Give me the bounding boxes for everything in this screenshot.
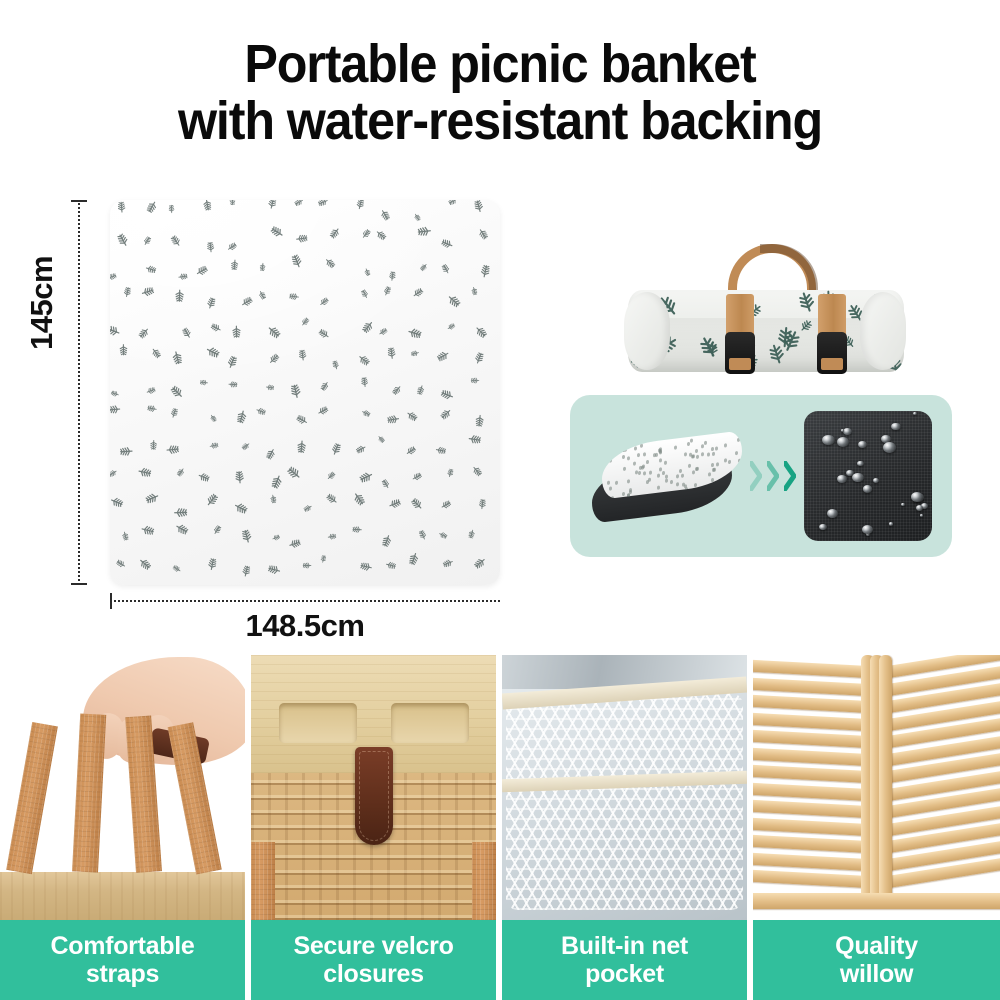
height-label: 145cm xyxy=(24,256,60,350)
buckle-right-icon xyxy=(817,332,847,374)
velcro-strap-icon xyxy=(355,747,393,845)
willow-weave-photo xyxy=(753,655,1000,920)
chevron-3 xyxy=(784,461,796,491)
caption-line-1: Built-in net xyxy=(561,932,688,960)
caption-line-1: Secure velcro xyxy=(293,932,453,960)
willow-stake xyxy=(879,655,892,903)
water-droplet xyxy=(822,435,834,445)
willow-rod xyxy=(753,800,877,819)
water-resistant-panel xyxy=(570,395,952,557)
hand-holding-straps-photo xyxy=(0,655,245,920)
buckle-slot xyxy=(729,358,751,370)
willow-rod xyxy=(753,835,877,854)
water-droplet xyxy=(863,485,873,493)
side-strap-right xyxy=(472,842,496,920)
feature-caption-straps: Comfortable straps xyxy=(0,920,245,1000)
willow-rod xyxy=(753,730,877,749)
caption-line-2: pocket xyxy=(585,960,664,988)
lid-recess-right xyxy=(391,703,469,743)
caption-line-2: closures xyxy=(323,960,423,988)
width-label: 148.5cm xyxy=(110,608,500,644)
water-droplet xyxy=(920,514,923,517)
willow-rod xyxy=(753,765,877,784)
feature-panel-willow: Quality willow xyxy=(753,655,1000,1000)
dimension-cap-bottom xyxy=(71,583,87,585)
page-title: Portable picnic banket with water-resist… xyxy=(35,36,965,149)
water-droplet xyxy=(827,509,838,518)
willow-rod xyxy=(753,695,877,714)
dimension-dotted-line xyxy=(78,200,80,585)
water-droplet xyxy=(857,461,864,467)
water-droplet xyxy=(819,524,827,530)
strap-webbing xyxy=(6,722,58,874)
willow-rod xyxy=(753,852,877,871)
willow-weave-icon xyxy=(753,655,1000,920)
feature-caption-willow: Quality willow xyxy=(753,920,1000,1000)
water-droplet xyxy=(916,505,923,511)
dimension-cap-top xyxy=(71,200,87,202)
height-dimension-line xyxy=(78,200,80,585)
title-line-1: Portable picnic banket xyxy=(244,34,755,94)
caption-line-2: willow xyxy=(840,960,913,988)
willow-rod xyxy=(753,712,877,731)
side-strap-left xyxy=(251,842,275,920)
leaf-pattern-icon xyxy=(110,200,500,585)
water-droplet xyxy=(837,475,847,483)
mesh-net-icon xyxy=(506,693,743,910)
water-droplet xyxy=(883,442,897,453)
caption-line-1: Comfortable xyxy=(51,932,195,960)
feature-panel-straps: Comfortable straps xyxy=(0,655,245,1000)
width-dimension-line xyxy=(110,600,500,602)
lid-recess-left xyxy=(279,703,357,743)
willow-rod xyxy=(753,817,877,836)
picnic-mat-illustration xyxy=(110,200,500,585)
water-droplet xyxy=(862,525,874,535)
buckle-left-icon xyxy=(725,332,755,374)
water-droplet xyxy=(852,473,863,482)
willow-rod xyxy=(753,660,877,679)
infographic-page: Portable picnic banket with water-resist… xyxy=(0,0,1000,1000)
feature-caption-velcro: Secure velcro closures xyxy=(251,920,496,1000)
chevron-right-icon xyxy=(750,457,812,497)
feature-panel-net-pocket: Built-in net pocket xyxy=(502,655,747,1000)
wood-surface xyxy=(0,872,245,920)
net-pocket-photo xyxy=(502,655,747,920)
dimension-cap-right xyxy=(110,593,112,609)
caption-line-2: straps xyxy=(86,960,159,988)
water-droplet xyxy=(837,437,849,447)
feature-panels: Comfortable straps Secure velcro closure… xyxy=(0,655,1000,1000)
waterproof-fabric-swatch xyxy=(804,411,932,541)
willow-rod xyxy=(753,677,877,696)
fabric-layers-icon xyxy=(590,433,740,523)
mat-surface xyxy=(110,200,500,585)
water-droplet xyxy=(891,423,901,431)
caption-line-1: Quality xyxy=(835,932,918,960)
water-droplet xyxy=(901,503,906,507)
willow-rod xyxy=(753,747,877,766)
roll-end-left xyxy=(624,292,670,370)
roll-end-right xyxy=(860,292,906,370)
title-line-2: with water-resistant backing xyxy=(35,93,965,150)
water-droplet xyxy=(911,492,923,502)
feature-caption-net-pocket: Built-in net pocket xyxy=(502,920,747,1000)
willow-base-rim xyxy=(753,893,1000,909)
water-droplet xyxy=(858,441,867,448)
water-droplet xyxy=(889,522,893,526)
water-droplet xyxy=(873,478,879,483)
dimension-dotted-line xyxy=(110,600,500,602)
basket-lid-velcro-photo xyxy=(251,655,496,920)
willow-rod xyxy=(753,870,877,889)
willow-rod xyxy=(753,782,877,801)
rolled-mat-illustration xyxy=(610,228,920,388)
strap-webbing xyxy=(72,714,106,873)
chevron-1 xyxy=(750,461,762,491)
buckle-slot xyxy=(821,358,843,370)
chevron-2 xyxy=(767,461,779,491)
water-droplet xyxy=(913,412,917,415)
water-droplet xyxy=(843,428,852,436)
feature-panel-velcro: Secure velcro closures xyxy=(251,655,496,1000)
